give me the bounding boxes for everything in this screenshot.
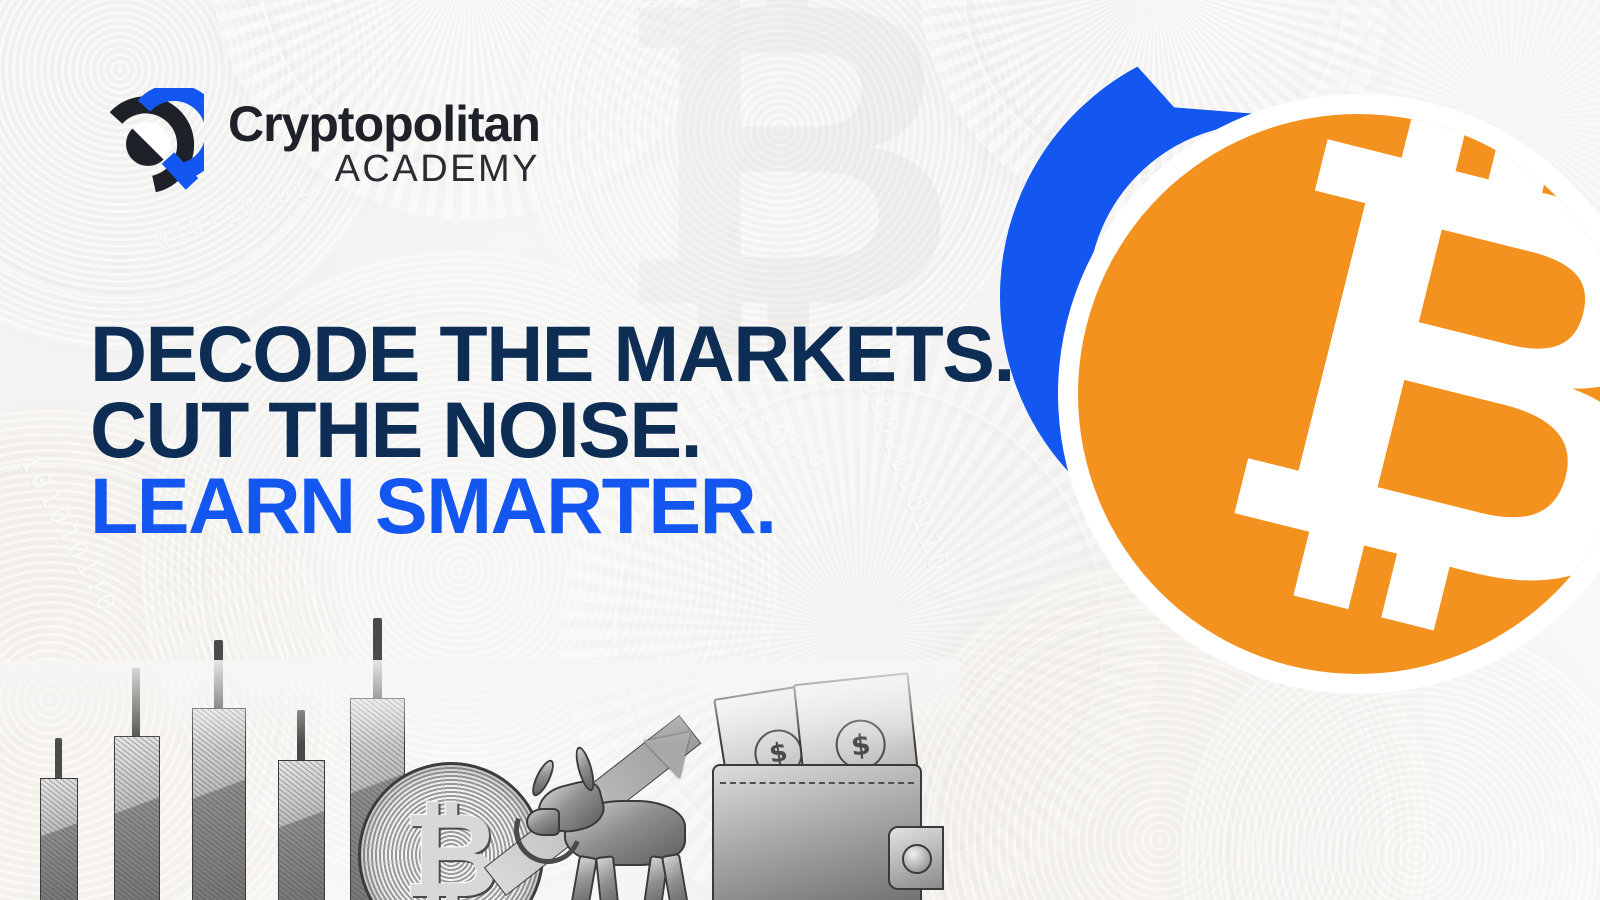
bull-figure [520, 730, 720, 900]
headline-block: DECODE THE MARKETS. CUT THE NOISE. LEARN… [90, 316, 1014, 543]
promo-banner: ₿ 01010101010 0110101010110 101010110 01… [0, 0, 1600, 900]
logo-wordmark: Cryptopolitan ACADEMY [228, 88, 540, 190]
cryptopolitan-academy-logo[interactable]: Cryptopolitan ACADEMY [92, 88, 540, 200]
headline-line-3: LEARN SMARTER. [90, 468, 1014, 544]
wallet-button [902, 844, 932, 874]
bitcoin-symbol-icon: ₿ [1177, 114, 1600, 674]
pencil-sketch-illustration: ₿ $ [0, 660, 960, 900]
bitcoin-hero-graphic: ₿ [980, 0, 1600, 900]
headline-line-1: DECODE THE MARKETS. [90, 316, 1014, 392]
logo-subtitle: ACADEMY [228, 150, 540, 190]
wallet-with-cash: $ $ [712, 686, 942, 900]
bitcoin-coin-symbol: ₿ [403, 786, 499, 900]
logo-title: Cryptopolitan [228, 100, 540, 148]
cryptopolitan-q-logo-icon [92, 88, 204, 200]
headline-line-2: CUT THE NOISE. [90, 392, 1014, 468]
